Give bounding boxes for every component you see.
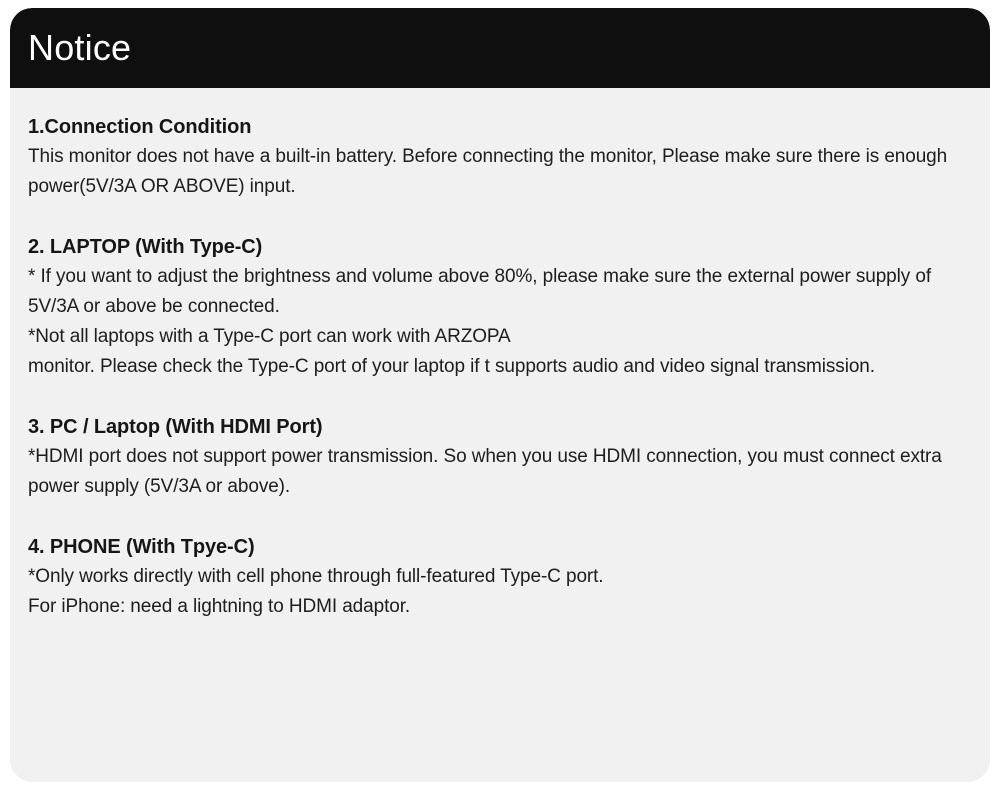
section-paragraph: *Only works directly with cell phone thr… xyxy=(28,562,968,592)
notice-card: Notice 1.Connection Condition This monit… xyxy=(10,8,990,782)
section-laptop-type-c: 2. LAPTOP (With Type-C) * If you want to… xyxy=(28,232,968,382)
section-pc-laptop-hdmi: 3. PC / Laptop (With HDMI Port) *HDMI po… xyxy=(28,412,968,502)
notice-header: Notice xyxy=(10,8,990,88)
section-phone-type-c: 4. PHONE (With Tpye-C) *Only works direc… xyxy=(28,532,968,622)
section-paragraph: This monitor does not have a built-in ba… xyxy=(28,142,968,202)
section-paragraph: *HDMI port does not support power transm… xyxy=(28,442,968,502)
section-paragraph: * If you want to adjust the brightness a… xyxy=(28,262,968,322)
section-connection-condition: 1.Connection Condition This monitor does… xyxy=(28,112,968,202)
notice-body: 1.Connection Condition This monitor does… xyxy=(10,88,990,622)
section-note-line-1: *Not all laptops with a Type-C port can … xyxy=(28,322,968,352)
section-note-line-2: monitor. Please check the Type-C port of… xyxy=(28,352,968,382)
section-heading: 4. PHONE (With Tpye-C) xyxy=(28,532,968,562)
section-paragraph: For iPhone: need a lightning to HDMI ada… xyxy=(28,592,968,622)
page-title: Notice xyxy=(28,30,131,66)
section-heading: 2. LAPTOP (With Type-C) xyxy=(28,232,968,262)
section-heading: 1.Connection Condition xyxy=(28,112,968,142)
section-heading: 3. PC / Laptop (With HDMI Port) xyxy=(28,412,968,442)
